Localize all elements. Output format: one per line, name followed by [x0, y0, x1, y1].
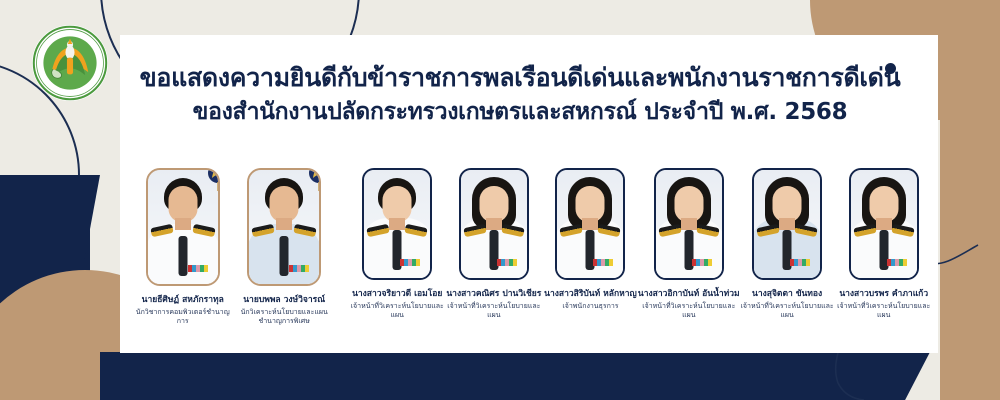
honoree-photo-frame — [362, 168, 432, 280]
navy-bottom-bar — [100, 352, 930, 400]
honoree-role: เจ้าหน้าที่วิเคราะห์นโยบายและแผน — [739, 302, 836, 321]
ministry-emblem-logo — [32, 25, 108, 101]
honoree-card: นายบพพล วงษ์วิจารณ์นักวิเคราะห์นโยบายและ… — [233, 168, 334, 327]
honoree-portrait — [851, 170, 917, 278]
honoree-role: นักวิชาการคอมพิวเตอร์ชำนาญการ — [132, 308, 233, 327]
honoree-role: เจ้าพนักงานธุรการ — [562, 302, 618, 311]
honoree-role: นักวิเคราะห์นโยบายและแผนชำนาญการพิเศษ — [241, 308, 328, 327]
poster-canvas: ขอแสดงความยินดีกับข้าราชการพลเรือนดีเด่น… — [0, 0, 1000, 400]
honoree-role: เจ้าหน้าที่วิเคราะห์นโยบายและแผน — [835, 302, 932, 321]
honoree-role: เจ้าหน้าที่วิเคราะห์นโยบายและแผน — [639, 302, 739, 321]
honoree-name: นายบพพล วงษ์วิจารณ์ — [243, 295, 325, 306]
honoree-name: นางสาวจริยาวดี เอมโอย — [352, 289, 442, 300]
honoree-photo-frame — [459, 168, 529, 280]
honoree-photo-frame — [654, 168, 724, 280]
honoree-photo-frame — [247, 168, 321, 286]
royal-emblem-badge-icon — [206, 168, 220, 192]
honoree-portrait — [364, 170, 430, 278]
honoree-card: นางสาวอิกาบันท์ อันน้ำท่วมเจ้าหน้าที่วิเ… — [639, 168, 739, 321]
page-title-line1: ขอแสดงความยินดีกับข้าราชการพลเรือนดีเด่น… — [120, 62, 920, 93]
honoree-card: นายธีศิษฏ์ สหภักราทุลนักวิชาการคอมพิวเตอ… — [132, 168, 233, 327]
honorees-row: นายธีศิษฏ์ สหภักราทุลนักวิชาการคอมพิวเตอ… — [132, 168, 932, 327]
title-block: ขอแสดงความยินดีกับข้าราชการพลเรือนดีเด่น… — [120, 62, 920, 128]
honoree-portrait — [461, 170, 527, 278]
honoree-card: นางสาวสิริบันท์ หลักหาญเจ้าพนักงานธุรการ — [542, 168, 639, 311]
honoree-portrait — [557, 170, 623, 278]
page-title-line2: ของสำนักงานปลัดกระทรวงเกษตรและสหกรณ์ ประ… — [120, 97, 920, 128]
honoree-name: นางสาวคณิศร ปานวิเชียร — [446, 289, 541, 300]
honoree-name: นางสาวบรพร คำภาแก้ว — [839, 289, 928, 300]
honoree-photo-frame — [555, 168, 625, 280]
honoree-photo-frame — [146, 168, 220, 286]
honoree-portrait — [754, 170, 820, 278]
honoree-name: นางสาวอิกาบันท์ อันน้ำท่วม — [638, 289, 740, 300]
royal-emblem-badge-icon — [307, 168, 321, 192]
honoree-card: นางสาวจริยาวดี เอมโอยเจ้าหน้าที่วิเคราะห… — [349, 168, 446, 321]
honoree-card: นางสุจิตตา ขันทองเจ้าหน้าที่วิเคราะห์นโย… — [739, 168, 836, 321]
honoree-photo-frame — [849, 168, 919, 280]
ministry-emblem-icon — [32, 25, 108, 101]
honoree-role: เจ้าหน้าที่วิเคราะห์นโยบายและแผน — [446, 302, 543, 321]
honoree-photo-frame — [752, 168, 822, 280]
honoree-name: นายธีศิษฏ์ สหภักราทุล — [142, 295, 224, 306]
honoree-card: นางสาวคณิศร ปานวิเชียรเจ้าหน้าที่วิเคราะ… — [446, 168, 543, 321]
honoree-portrait — [656, 170, 722, 278]
honoree-card: นางสาวบรพร คำภาแก้วเจ้าหน้าที่วิเคราะห์น… — [835, 168, 932, 321]
honoree-name: นางสาวสิริบันท์ หลักหาญ — [544, 289, 637, 300]
honoree-name: นางสุจิตตา ขันทอง — [752, 289, 822, 300]
honoree-role: เจ้าหน้าที่วิเคราะห์นโยบายและแผน — [349, 302, 446, 321]
